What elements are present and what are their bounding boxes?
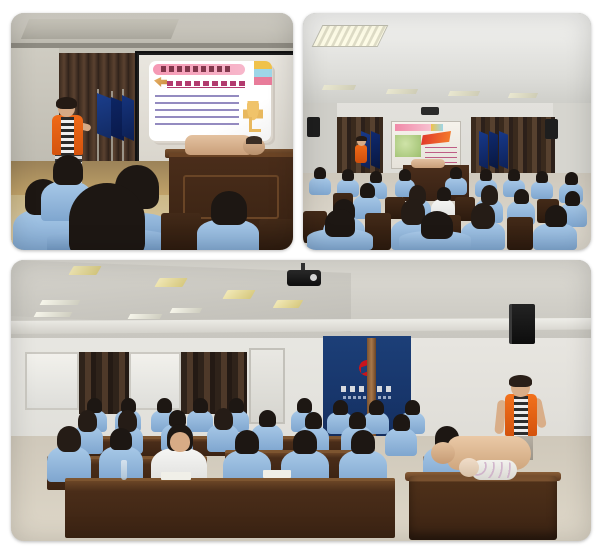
scene-classroom-front-angle xyxy=(11,260,591,541)
window xyxy=(129,352,181,410)
blue-flag xyxy=(371,131,380,169)
audience-head xyxy=(211,191,247,225)
ceiling-lamp xyxy=(154,278,187,287)
ceiling-projector xyxy=(421,107,439,115)
slide-header-band xyxy=(395,124,431,131)
infant-manikin-outfit xyxy=(473,462,515,478)
notebook xyxy=(263,470,291,478)
blue-flag xyxy=(489,131,498,169)
instructor-hair xyxy=(509,375,532,387)
slide-title-underline xyxy=(167,87,245,88)
instructor-orange-vest xyxy=(355,145,367,163)
notebook xyxy=(161,472,191,480)
fluorescent-tube xyxy=(170,308,203,313)
ceiling-lamp xyxy=(508,93,538,98)
audience-head xyxy=(437,187,451,201)
photo-collage xyxy=(0,0,602,552)
audience-head-foreground xyxy=(69,183,145,250)
ceiling-lamp xyxy=(386,89,418,94)
audience-head xyxy=(369,400,384,415)
audience-face xyxy=(170,432,190,452)
audience-head xyxy=(110,428,132,450)
audience-head xyxy=(305,412,322,429)
audience-head xyxy=(229,398,244,413)
instructor-hair xyxy=(356,136,367,141)
audience-head-foreground xyxy=(325,209,355,237)
audience-head xyxy=(293,430,317,454)
ceiling-projector xyxy=(287,270,321,286)
collage-top-row xyxy=(11,13,591,250)
wall-speaker xyxy=(307,117,320,137)
blue-flag xyxy=(97,93,111,139)
audience-head xyxy=(536,171,548,183)
audience-head xyxy=(399,169,411,181)
audience-head xyxy=(565,172,578,185)
adult-manikin-head xyxy=(431,442,455,464)
audience-head xyxy=(157,398,172,413)
ceiling-lamp xyxy=(222,290,255,299)
photo-top-left[interactable] xyxy=(11,13,293,250)
audience-head xyxy=(405,400,420,415)
ceiling-lamp xyxy=(68,266,101,275)
ceiling-beam xyxy=(21,19,179,39)
ceiling-lamp xyxy=(448,91,480,96)
audience-head-foreground xyxy=(421,211,453,239)
audience-head xyxy=(370,171,382,183)
demo-table xyxy=(409,476,557,540)
slide-title-text xyxy=(167,81,245,86)
audience-head xyxy=(508,169,520,181)
audience-head xyxy=(214,408,233,430)
audience-head xyxy=(333,400,348,415)
blue-flag xyxy=(122,95,134,141)
cpr-manikin xyxy=(411,159,445,168)
slide-color-tabs xyxy=(254,61,272,85)
water-bottle xyxy=(121,460,127,480)
audience-torso xyxy=(531,181,553,199)
instructor-shirt xyxy=(514,396,528,436)
photo-bottom[interactable] xyxy=(11,260,591,541)
fluorescent-tube xyxy=(128,314,163,319)
audience-head xyxy=(480,169,492,181)
fluorescent-tube xyxy=(34,312,73,317)
audience-head xyxy=(57,426,81,452)
wall-speaker xyxy=(545,119,558,139)
window xyxy=(25,352,79,410)
audience-head xyxy=(297,398,312,413)
chair-back xyxy=(507,217,533,250)
infant-manikin-head xyxy=(459,458,479,477)
audience-head xyxy=(53,155,83,185)
scene-instructor-at-screen xyxy=(11,13,293,250)
blue-flag xyxy=(499,131,508,169)
ceiling-lamp xyxy=(322,85,356,90)
audience-head xyxy=(450,167,462,179)
audience-head xyxy=(481,185,498,205)
scene-lecture-hall-wide xyxy=(303,13,591,250)
audience-head xyxy=(235,430,259,454)
chair-back xyxy=(161,213,201,250)
audience-torso xyxy=(385,428,417,456)
audience-head xyxy=(193,398,208,413)
instructor-shirt xyxy=(61,117,74,155)
audience-head xyxy=(351,430,375,454)
blue-flag xyxy=(479,131,488,169)
ceiling-lamp xyxy=(273,300,304,308)
audience-torso xyxy=(533,223,577,250)
wall-speaker xyxy=(509,304,535,344)
audience-torso xyxy=(309,177,331,195)
audience-head xyxy=(78,410,97,432)
ceiling-light-panel xyxy=(312,25,389,47)
instructor-hair xyxy=(56,97,77,109)
ceiling-edge xyxy=(11,43,293,48)
slide-illustration xyxy=(395,135,421,157)
audience-head xyxy=(360,183,375,198)
audience-head xyxy=(565,191,580,206)
audience-head xyxy=(342,169,354,181)
collage-bottom-row xyxy=(11,260,591,541)
slide-body-text xyxy=(155,95,239,129)
audience-head xyxy=(349,412,366,429)
audience-head xyxy=(393,414,410,431)
slide-header-text xyxy=(161,66,233,72)
audience-head xyxy=(514,189,529,204)
audience-head xyxy=(259,410,276,427)
cpr-manikin-hair xyxy=(246,136,262,144)
audience-head xyxy=(314,167,326,179)
fluorescent-tube xyxy=(40,300,81,305)
photo-top-right[interactable] xyxy=(303,13,591,250)
desk-row-front xyxy=(65,478,395,538)
key-illustration-icon xyxy=(243,101,263,129)
audience-head xyxy=(471,203,495,229)
chair-back xyxy=(259,219,293,250)
audience-head xyxy=(545,205,567,227)
slide-color-tabs xyxy=(431,124,443,131)
